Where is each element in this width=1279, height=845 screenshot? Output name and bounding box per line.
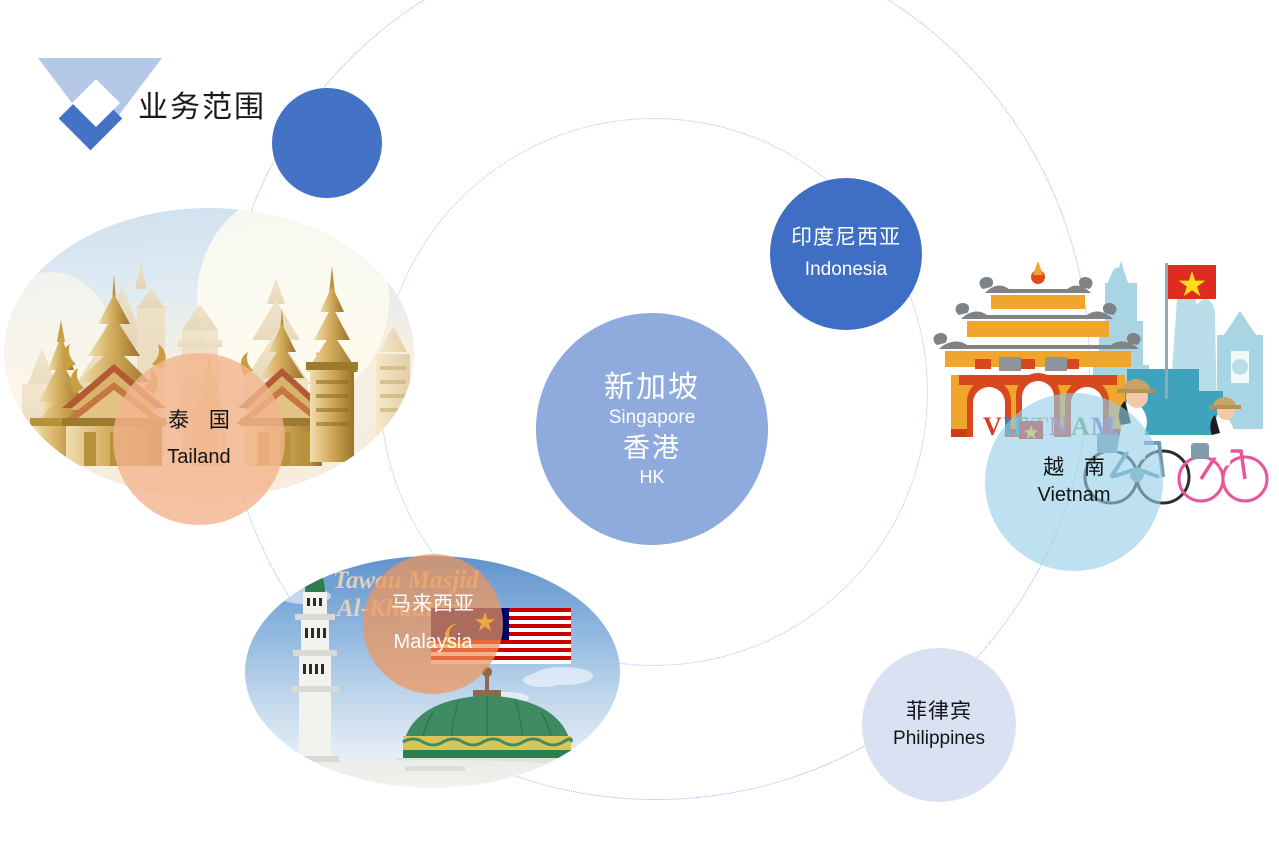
bubble-malaysia[interactable]: 马来西亚 Malaysia	[363, 554, 503, 694]
page-title-block: 业务范围	[34, 52, 334, 152]
philippines-label-en: Philippines	[893, 728, 985, 750]
indonesia-label-en: Indonesia	[805, 259, 887, 281]
thai-prang-right	[306, 266, 358, 462]
page-title: 业务范围	[138, 82, 266, 126]
malaysia-label-en: Malaysia	[394, 631, 473, 655]
diagram-canvas: V I E T N A M Tawau Masjid	[0, 0, 1279, 845]
vietnam-label-cn: 越 南	[1036, 456, 1112, 481]
thailand-label-cn: 泰 国	[161, 409, 237, 434]
thai-tower-edge	[376, 326, 410, 462]
hub-label-hk-en: HK	[639, 467, 664, 488]
hub-label-singapore-en: Singapore	[609, 407, 696, 429]
vietnam-label-en: Vietnam	[1037, 484, 1110, 508]
malaysia-label-cn: 马来西亚	[391, 593, 475, 617]
indonesia-label-cn: 印度尼西亚	[791, 226, 901, 251]
thailand-label-en: Tailand	[167, 446, 230, 470]
bubble-indonesia[interactable]: 印度尼西亚 Indonesia	[770, 178, 922, 330]
hub-label-singapore-cn: 新加坡	[604, 370, 700, 405]
bubble-singapore-hk-hub[interactable]: 新加坡 Singapore 香港 HK	[536, 313, 768, 545]
bubble-thailand[interactable]: 泰 国 Tailand	[113, 353, 285, 525]
bubble-vietnam[interactable]: 越 南 Vietnam	[985, 393, 1163, 571]
hub-label-hk-cn: 香港	[623, 433, 681, 465]
philippines-label-cn: 菲律宾	[906, 700, 972, 725]
bubble-philippines[interactable]: 菲律宾 Philippines	[862, 648, 1016, 802]
